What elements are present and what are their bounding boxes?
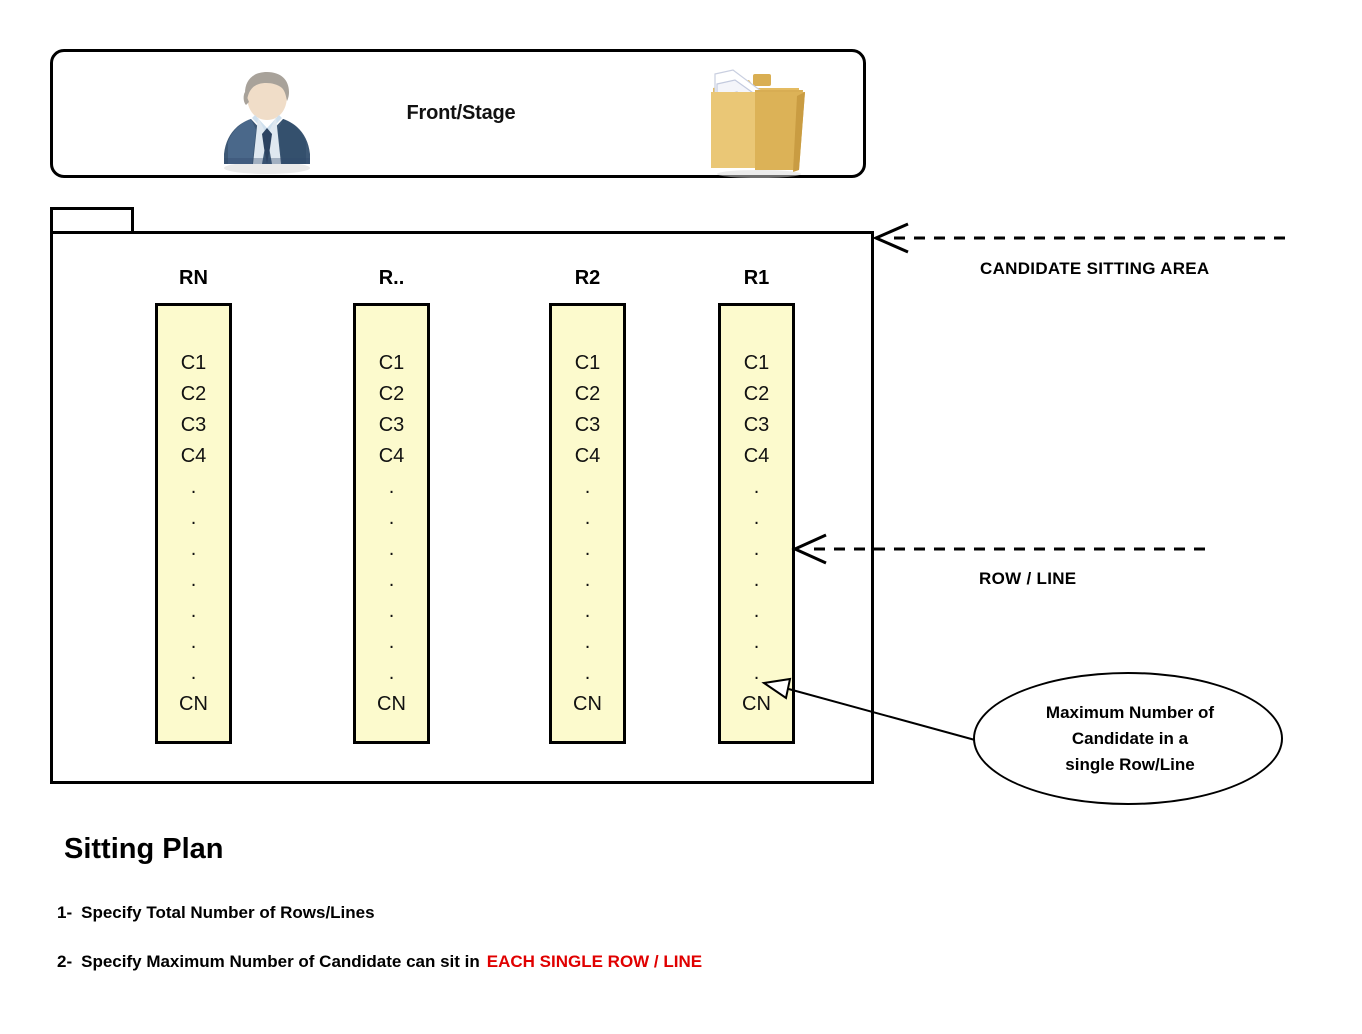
- seat-item: C2: [158, 379, 229, 410]
- seat-list: C1 C2 C3 C4 ....... CN: [552, 348, 623, 720]
- seat-item: C4: [552, 441, 623, 472]
- documents-folder-icon: [693, 56, 819, 180]
- seat-dot: .: [721, 627, 792, 658]
- seat-item: C3: [721, 410, 792, 441]
- seat-dot: .: [158, 534, 229, 565]
- row-label-r2: R2: [549, 267, 626, 290]
- seat-ellipsis-dots: .......: [356, 472, 427, 689]
- seat-dot: .: [356, 627, 427, 658]
- seat-ellipsis-dots: .......: [552, 472, 623, 689]
- seat-list: C1 C2 C3 C4 ....... CN: [721, 348, 792, 720]
- seat-dot: .: [721, 596, 792, 627]
- seat-dot: .: [356, 658, 427, 689]
- plan-step-1: 1-Specify Total Number of Rows/Lines: [57, 903, 375, 923]
- plan-step-2-highlight: EACH SINGLE ROW / LINE: [487, 952, 702, 971]
- callout-text: Maximum Number of Candidate in a single …: [975, 700, 1285, 778]
- seat-dot: .: [552, 472, 623, 503]
- seat-dot: .: [356, 503, 427, 534]
- candidate-sitting-area: RN C1 C2 C3 C4 ....... CN R.. C1 C2 C3 C…: [50, 207, 874, 784]
- seat-item-last: CN: [721, 689, 792, 720]
- seat-dot: .: [552, 565, 623, 596]
- seat-dot: .: [721, 472, 792, 503]
- seat-item: C3: [158, 410, 229, 441]
- candidate-sitting-area-label: CANDIDATE SITTING AREA: [980, 259, 1209, 279]
- seat-item: C2: [721, 379, 792, 410]
- seat-list: C1 C2 C3 C4 ....... CN: [356, 348, 427, 720]
- seat-dot: .: [721, 503, 792, 534]
- plan-step-1-number: 1-: [57, 903, 72, 922]
- seat-item: C1: [356, 348, 427, 379]
- seat-dot: .: [158, 472, 229, 503]
- seat-item: C2: [552, 379, 623, 410]
- seat-item: C1: [721, 348, 792, 379]
- row-column-r2[interactable]: C1 C2 C3 C4 ....... CN: [549, 303, 626, 744]
- seat-dot: .: [721, 658, 792, 689]
- row-column-r1[interactable]: C1 C2 C3 C4 ....... CN: [718, 303, 795, 744]
- plan-step-2-number: 2-: [57, 952, 72, 971]
- seat-item-last: CN: [356, 689, 427, 720]
- seat-dot: .: [552, 658, 623, 689]
- seat-item: C1: [158, 348, 229, 379]
- callout-line-1: Maximum Number of: [975, 700, 1285, 726]
- seat-item: C2: [356, 379, 427, 410]
- seat-list: C1 C2 C3 C4 ....... CN: [158, 348, 229, 720]
- plan-step-2: 2-Specify Maximum Number of Candidate ca…: [57, 952, 702, 972]
- seat-dot: .: [158, 596, 229, 627]
- seat-item: C3: [356, 410, 427, 441]
- seat-dot: .: [158, 658, 229, 689]
- seat-item: C1: [552, 348, 623, 379]
- sitting-plan-heading: Sitting Plan: [64, 833, 224, 866]
- seat-dot: .: [356, 472, 427, 503]
- seat-item-last: CN: [158, 689, 229, 720]
- row-line-label: ROW / LINE: [979, 569, 1076, 589]
- row-label-rdots: R..: [353, 267, 430, 290]
- seat-dot: .: [158, 503, 229, 534]
- seat-item: C4: [721, 441, 792, 472]
- row-column-rn[interactable]: C1 C2 C3 C4 ....... CN: [155, 303, 232, 744]
- row-column-rdots[interactable]: C1 C2 C3 C4 ....... CN: [353, 303, 430, 744]
- seat-ellipsis-dots: .......: [158, 472, 229, 689]
- seat-item: C4: [158, 441, 229, 472]
- seat-item-last: CN: [552, 689, 623, 720]
- seat-dot: .: [552, 627, 623, 658]
- seat-dot: .: [356, 565, 427, 596]
- max-candidates-callout: Maximum Number of Candidate in a single …: [973, 672, 1283, 805]
- front-stage-banner: Front/Stage: [50, 49, 866, 178]
- seat-dot: .: [721, 534, 792, 565]
- seat-dot: .: [158, 627, 229, 658]
- seat-dot: .: [552, 534, 623, 565]
- seat-dot: .: [552, 503, 623, 534]
- plan-step-1-text: Specify Total Number of Rows/Lines: [81, 903, 374, 922]
- callout-line-2: Candidate in a: [975, 726, 1285, 752]
- row-label-rn: RN: [155, 267, 232, 290]
- seat-dot: .: [356, 596, 427, 627]
- folder-tab: [50, 207, 134, 234]
- seat-dot: .: [721, 565, 792, 596]
- seat-item: C3: [552, 410, 623, 441]
- callout-line-3: single Row/Line: [975, 752, 1285, 778]
- seat-item: C4: [356, 441, 427, 472]
- plan-step-2-text: Specify Maximum Number of Candidate can …: [81, 952, 480, 971]
- seat-ellipsis-dots: .......: [721, 472, 792, 689]
- seat-dot: .: [158, 565, 229, 596]
- seat-dot: .: [356, 534, 427, 565]
- seat-dot: .: [552, 596, 623, 627]
- candidate-area-arrowhead: [876, 224, 908, 252]
- row-label-r1: R1: [718, 267, 795, 290]
